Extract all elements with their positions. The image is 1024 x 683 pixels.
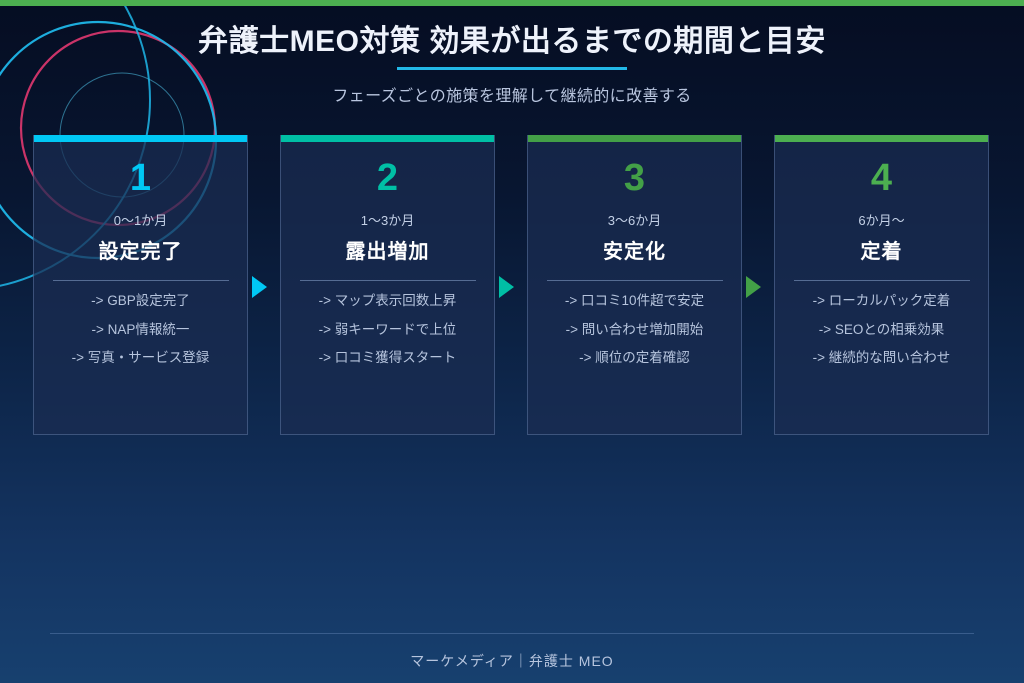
flow-arrow-1-icon — [252, 276, 267, 298]
phase-card-4-title: 定着 — [861, 235, 903, 264]
phase-card-4-items: -> ローカルパック定着 -> SEOとの相乗効果 -> 継続的な問い合わせ — [775, 294, 988, 380]
list-item: -> 順位の定着確認 — [528, 351, 741, 365]
list-item: -> GBP設定完了 — [34, 294, 247, 308]
footer-divider — [50, 633, 974, 634]
list-item: -> 写真・サービス登録 — [34, 351, 247, 365]
phase-card-1-divider — [53, 280, 229, 281]
phase-card-2-items: -> マップ表示回数上昇 -> 弱キーワードで上位 -> 口コミ獲得スタート — [281, 294, 494, 380]
flow-arrow-2-icon — [499, 276, 514, 298]
phase-card-3-title: 安定化 — [603, 235, 666, 264]
phase-card-2-title: 露出増加 — [346, 235, 430, 264]
phase-card-1-items: -> GBP設定完了 -> NAP情報統一 -> 写真・サービス登録 — [34, 294, 247, 380]
list-item: -> 口コミ獲得スタート — [281, 351, 494, 365]
phase-card-3-number: 3 — [624, 159, 645, 197]
phase-card-2-accent — [281, 135, 494, 142]
header: 弁護士MEO対策 効果が出るまでの期間と目安 フェーズごとの施策を理解して継続的… — [0, 0, 1024, 106]
list-item: -> 弱キーワードで上位 — [281, 323, 494, 337]
top-accent-bar — [0, 0, 1024, 6]
title-block: 弁護士MEO対策 効果が出るまでの期間と目安 — [198, 22, 826, 70]
footer: マーケメディア｜弁護士 MEO — [50, 633, 974, 671]
phase-card-1[interactable]: 1 0〜1か月 設定完了 -> GBP設定完了 -> NAP情報統一 -> 写真… — [33, 135, 248, 435]
phase-card-3-divider — [547, 280, 723, 281]
phase-card-3[interactable]: 3 3〜6か月 安定化 -> 口コミ10件超で安定 -> 問い合わせ増加開始 -… — [527, 135, 742, 435]
list-item: -> 口コミ10件超で安定 — [528, 294, 741, 308]
phase-card-3-accent — [528, 135, 741, 142]
list-item: -> 継続的な問い合わせ — [775, 351, 988, 365]
phase-card-2[interactable]: 2 1〜3か月 露出増加 -> マップ表示回数上昇 -> 弱キーワードで上位 -… — [280, 135, 495, 435]
title-underline — [397, 67, 627, 70]
list-item: -> マップ表示回数上昇 — [281, 294, 494, 308]
list-item: -> ローカルパック定着 — [775, 294, 988, 308]
phase-card-4[interactable]: 4 6か月〜 定着 -> ローカルパック定着 -> SEOとの相乗効果 -> 継… — [774, 135, 989, 435]
phase-card-1-accent — [34, 135, 247, 142]
list-item: -> 問い合わせ増加開始 — [528, 323, 741, 337]
phase-card-1-title: 設定完了 — [99, 235, 183, 264]
phase-card-4-period: 6か月〜 — [858, 210, 904, 229]
page-title: 弁護士MEO対策 効果が出るまでの期間と目安 — [198, 22, 826, 63]
footer-text: マーケメディア｜弁護士 MEO — [50, 651, 974, 671]
slide-canvas: 弁護士MEO対策 効果が出るまでの期間と目安 フェーズごとの施策を理解して継続的… — [0, 0, 1024, 683]
phase-card-2-number: 2 — [377, 159, 398, 197]
phase-card-3-items: -> 口コミ10件超で安定 -> 問い合わせ増加開始 -> 順位の定着確認 — [528, 294, 741, 380]
list-item: -> NAP情報統一 — [34, 323, 247, 337]
list-item: -> SEOとの相乗効果 — [775, 323, 988, 337]
phase-card-4-accent — [775, 135, 988, 142]
phase-card-3-period: 3〜6か月 — [608, 210, 661, 229]
flow-arrow-3-icon — [746, 276, 761, 298]
phase-card-4-number: 4 — [871, 159, 892, 197]
phase-card-4-divider — [794, 280, 970, 281]
page-subtitle: フェーズごとの施策を理解して継続的に改善する — [0, 82, 1024, 106]
phase-card-2-divider — [300, 280, 476, 281]
phase-card-1-period: 0〜1か月 — [114, 210, 167, 229]
phase-card-1-number: 1 — [130, 159, 151, 197]
phase-card-2-period: 1〜3か月 — [361, 210, 414, 229]
